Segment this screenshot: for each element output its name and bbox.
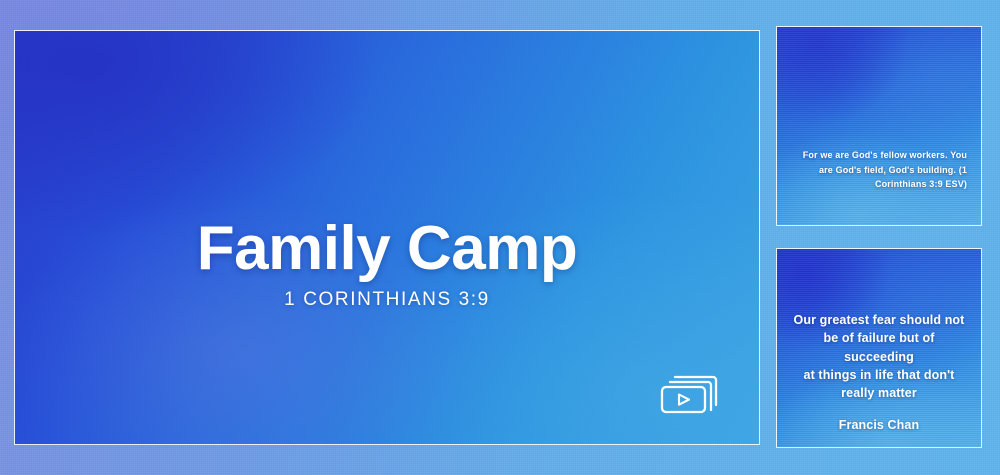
media-stack-play-icon[interactable] [655, 364, 721, 416]
quote-text: Our greatest fear should not be of failu… [787, 311, 971, 402]
quote-author: Francis Chan [787, 416, 971, 434]
main-slide-panel[interactable]: Family Camp 1 CORINTHIANS 3:9 [14, 30, 760, 445]
hero-text-group: Family Camp 1 CORINTHIANS 3:9 [15, 217, 759, 311]
presentation-stage: Family Camp 1 CORINTHIANS 3:9 For we are… [0, 0, 1000, 475]
scripture-slide-panel[interactable]: For we are God's fellow workers. You are… [776, 26, 982, 226]
scripture-text: For we are God's fellow workers. You are… [791, 148, 967, 192]
slide-subtitle: 1 CORINTHIANS 3:9 [15, 289, 759, 311]
slide-title: Family Camp [15, 217, 759, 280]
quote-slide-panel[interactable]: Our greatest fear should not be of failu… [776, 248, 982, 448]
